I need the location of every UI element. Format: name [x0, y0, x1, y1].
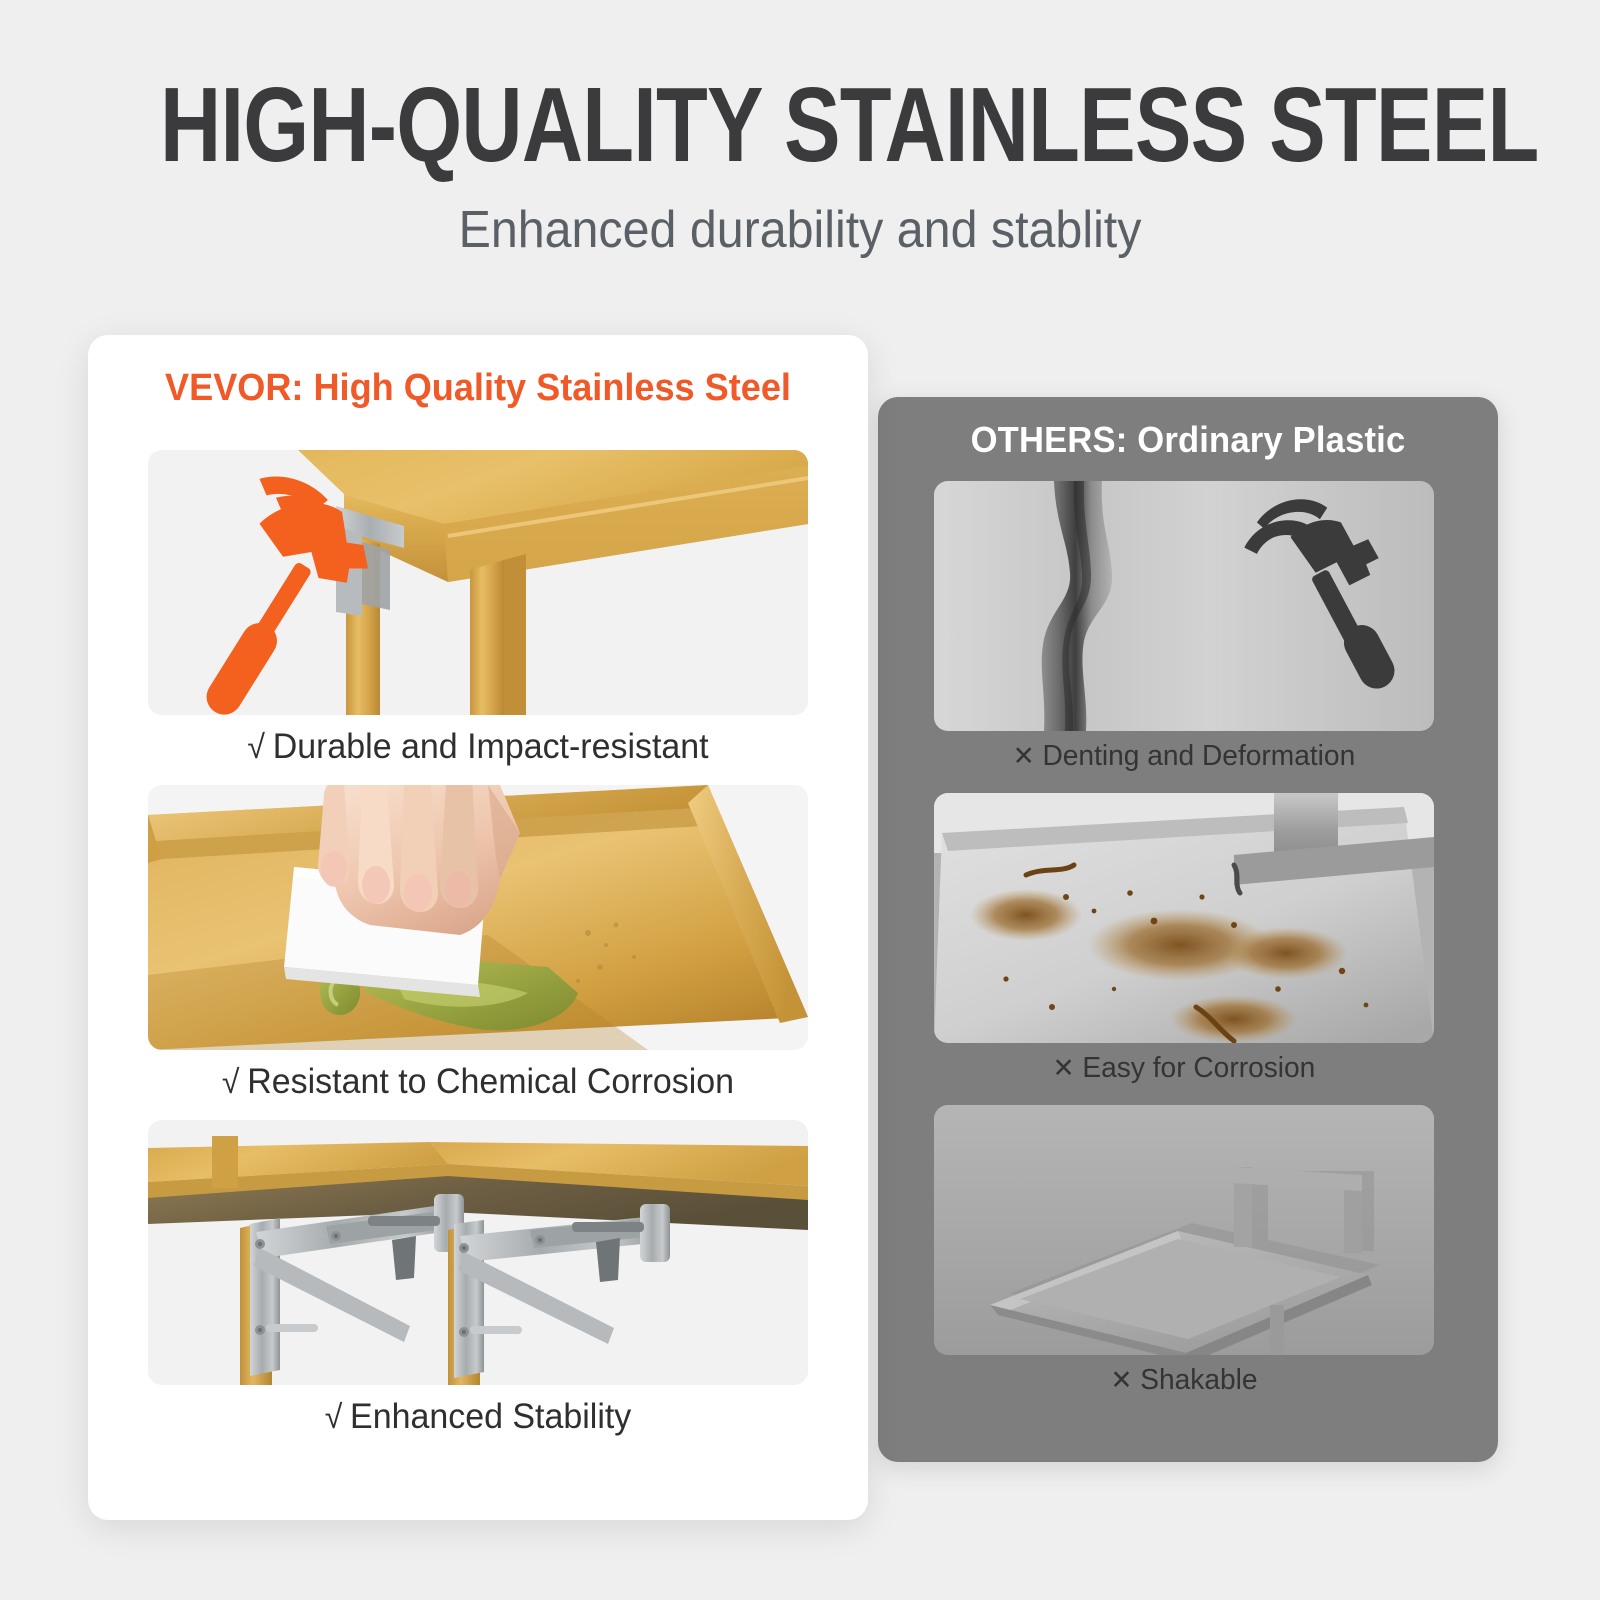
- hand-wiping-gold-surface-photo: [148, 785, 808, 1050]
- caption-text: Shakable: [1140, 1364, 1257, 1396]
- cross-mark-icon: ✕: [1053, 1053, 1075, 1083]
- others-comparison-panel: OTHERS: Ordinary Plastic: [878, 397, 1498, 1462]
- cross-mark-icon: ✕: [1110, 1365, 1132, 1395]
- gold-table-corner-with-hammer-photo: [148, 450, 808, 715]
- cross-mark-icon: ✕: [1013, 741, 1035, 771]
- check-mark-icon: √: [325, 1398, 343, 1435]
- rusty-stained-surface-photo: [934, 793, 1434, 1043]
- list-item-caption: √Resistant to Chemical Corrosion: [158, 1050, 798, 1102]
- list-item-caption: ✕Shakable: [942, 1355, 1427, 1397]
- table-leg: [470, 560, 504, 715]
- list-item-caption: ✕Easy for Corrosion: [942, 1043, 1427, 1085]
- shakable-table-illustration: [934, 1105, 1434, 1355]
- gold-table-corner-illustration: [148, 450, 808, 715]
- wipe-test-illustration: [148, 785, 808, 1050]
- wobbly-gray-table-photo: [934, 1105, 1434, 1355]
- caption-text: Denting and Deformation: [1042, 740, 1355, 772]
- vevor-feature-list: √Durable and Impact-resistant: [148, 450, 808, 1455]
- check-mark-icon: √: [247, 728, 265, 765]
- page-title: HIGH-QUALITY STAINLESS STEEL: [160, 0, 1440, 178]
- corrosion-illustration: [934, 793, 1434, 1043]
- list-item: √Durable and Impact-resistant: [148, 450, 808, 767]
- caption-text: Easy for Corrosion: [1082, 1052, 1315, 1084]
- caption-text: Resistant to Chemical Corrosion: [247, 1062, 734, 1101]
- list-item-caption: √Enhanced Stability: [158, 1385, 798, 1437]
- vevor-card-title: VEVOR: High Quality Stainless Steel: [108, 367, 849, 410]
- vevor-comparison-card: VEVOR: High Quality Stainless Steel: [88, 335, 868, 1520]
- others-panel-title: OTHERS: Ordinary Plastic: [890, 419, 1485, 461]
- list-item-caption: √Durable and Impact-resistant: [158, 715, 798, 767]
- list-item: ✕Easy for Corrosion: [934, 793, 1434, 1085]
- list-item: √Enhanced Stability: [148, 1120, 808, 1437]
- list-item: ✕Shakable: [934, 1105, 1434, 1397]
- caption-text: Enhanced Stability: [350, 1397, 631, 1436]
- dented-metal-with-hammer-photo: [934, 481, 1434, 731]
- list-item: √Resistant to Chemical Corrosion: [148, 785, 808, 1102]
- list-item: ✕Denting and Deformation: [934, 481, 1434, 773]
- folding-steel-brackets-photo: [148, 1120, 808, 1385]
- list-item-caption: ✕Denting and Deformation: [942, 731, 1427, 773]
- page-subtitle: Enhanced durability and stablity: [56, 178, 1544, 260]
- page-header: HIGH-QUALITY STAINLESS STEEL Enhanced du…: [0, 0, 1600, 300]
- table-leg: [1270, 1305, 1284, 1355]
- check-mark-icon: √: [222, 1063, 240, 1100]
- folding-bracket-illustration: [148, 1120, 808, 1385]
- others-feature-list: ✕Denting and Deformation: [934, 481, 1434, 1417]
- dented-metal-illustration: [934, 481, 1434, 731]
- caption-text: Durable and Impact-resistant: [273, 727, 709, 766]
